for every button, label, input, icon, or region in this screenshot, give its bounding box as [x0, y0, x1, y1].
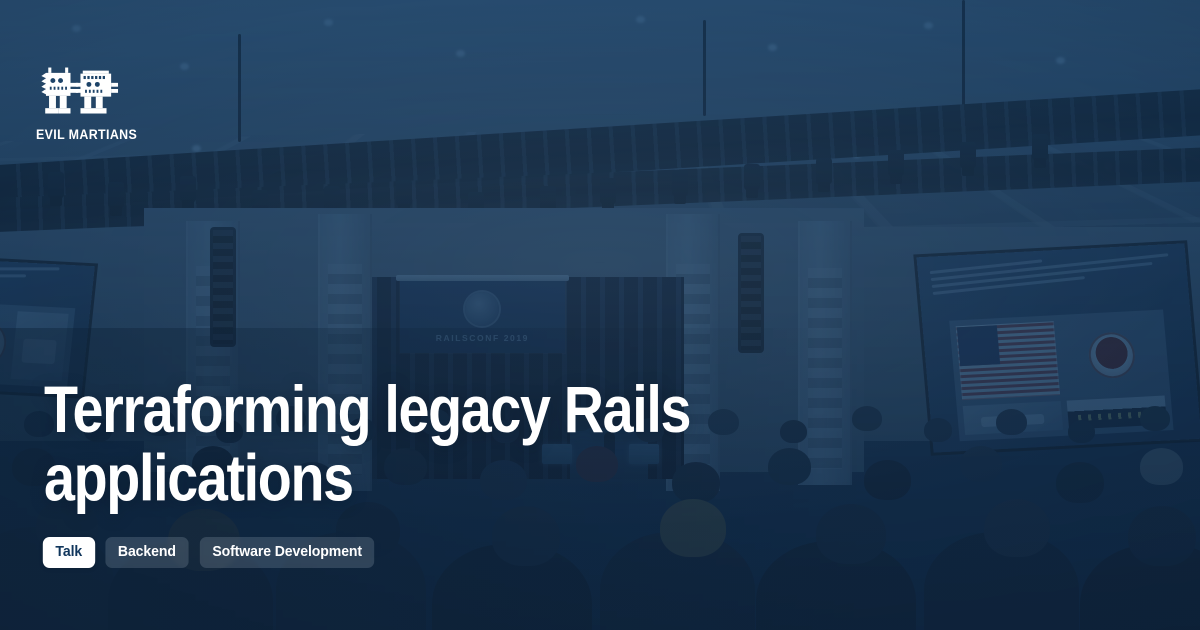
brand-wordmark: EVIL MARTIANS — [36, 127, 121, 142]
page-title-line-1: Terraforming legacy Rails — [44, 376, 889, 444]
tag-backend[interactable]: Backend — [105, 537, 188, 568]
card-content: EVIL MARTIANS Terraforming legacy Rails … — [0, 0, 1200, 630]
evil-martians-logo-icon — [36, 66, 128, 123]
page-title: Terraforming legacy Rails applications — [44, 376, 889, 512]
page-title-line-2: applications — [44, 444, 889, 512]
brand-logo[interactable]: EVIL MARTIANS — [36, 66, 128, 142]
tag-list: Talk Backend Software Development — [42, 537, 378, 568]
tag-talk[interactable]: Talk — [43, 537, 95, 568]
tag-software-development[interactable]: Software Development — [200, 537, 375, 568]
social-share-card: RAILSCONF 2019 — [0, 0, 1200, 630]
